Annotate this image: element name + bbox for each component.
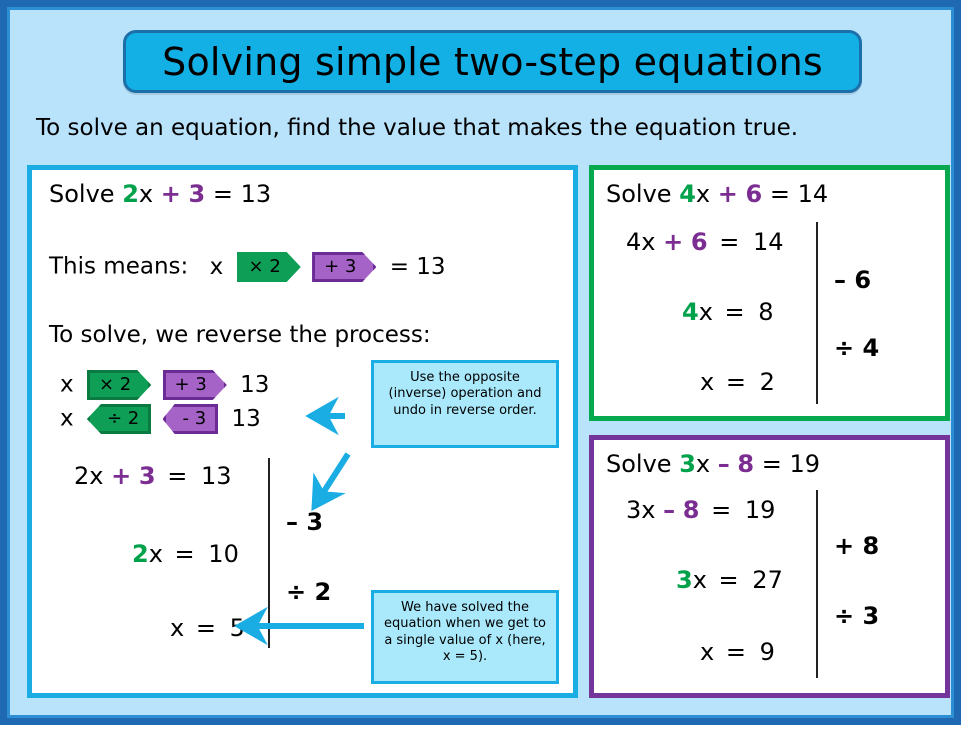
left-w1-equals: = <box>167 462 187 490</box>
green-heading-rhs: 14 <box>798 180 829 208</box>
left-w2-equals: = <box>175 540 195 568</box>
reverse-row2-end: 13 <box>232 406 261 432</box>
left-w3-var: x <box>170 614 184 642</box>
forward-chain-start: x <box>210 254 224 280</box>
left-w1-var: x <box>89 462 103 490</box>
green-w1-coef: 4 <box>626 228 641 256</box>
left-side-op-2: ÷ 2 <box>286 578 331 606</box>
forward-chip-add: + 3 <box>312 252 376 282</box>
worked-example-panel-purple: Solve 3x – 8 = 19 3x – 8 = 19 3x = 27 x … <box>589 435 950 698</box>
green-w2-equals: = <box>725 298 745 326</box>
reverse-chain-row-forward: x × 2 + 3 13 <box>60 370 269 400</box>
purple-w2-equals: = <box>719 566 739 594</box>
purple-working-line-2: 3x = 27 <box>676 566 783 594</box>
reverse-row1-start: x <box>60 372 74 398</box>
green-working-line-2: 4x = 8 <box>682 298 774 326</box>
left-working-line-3: x = 5 <box>170 614 245 642</box>
purple-heading-solve: Solve <box>606 450 672 478</box>
purple-heading: Solve 3x – 8 = 19 <box>606 450 820 478</box>
left-working-line-2: 2x = 10 <box>132 540 239 568</box>
worked-example-panel-main: Solve 2x + 3 = 13 This means: x × 2 + 3 … <box>27 165 578 698</box>
left-heading-const: 3 <box>189 180 206 208</box>
reverse-label: To solve, we reverse the process: <box>49 322 431 348</box>
green-w1-var: x <box>641 228 655 256</box>
purple-heading-var: x <box>696 450 710 478</box>
green-w1-rhs: 14 <box>753 228 784 256</box>
worked-example-panel-green: Solve 4x + 6 = 14 4x + 6 = 14 4x = 8 x =… <box>589 165 950 421</box>
purple-w1-var: x <box>641 496 655 524</box>
green-heading-op: + <box>718 180 738 208</box>
left-w2-var: x <box>149 540 163 568</box>
purple-heading-equals: = <box>762 450 782 478</box>
intro-text: To solve an equation, find the value tha… <box>36 115 798 141</box>
green-w2-coef: 4 <box>682 298 699 326</box>
green-side-op-2: ÷ 4 <box>834 334 879 362</box>
page-title: Solving simple two-step equations <box>162 40 823 84</box>
purple-w3-rhs: 9 <box>760 638 775 666</box>
purple-heading-op: – <box>718 450 730 478</box>
left-heading-equals: = <box>213 180 233 208</box>
left-heading: Solve 2x + 3 = 13 <box>49 180 271 208</box>
green-w1-equals: = <box>719 228 739 256</box>
purple-w3-var: x <box>700 638 714 666</box>
purple-heading-const: 8 <box>737 450 754 478</box>
left-w2-coef: 2 <box>132 540 149 568</box>
green-w2-rhs: 8 <box>758 298 773 326</box>
left-w1-const: 3 <box>139 462 156 490</box>
reverse-row1-end: 13 <box>240 372 269 398</box>
slide-canvas: Solving simple two-step equations To sol… <box>0 0 961 725</box>
left-w2-rhs: 10 <box>208 540 239 568</box>
forward-chip-multiply: × 2 <box>237 252 301 282</box>
reverse-row2-start: x <box>60 406 74 432</box>
green-heading-solve: Solve <box>606 180 672 208</box>
purple-divider-rule <box>816 490 818 678</box>
reverse-row2-chip-subtract: - 3 <box>163 404 219 434</box>
purple-side-op-2: ÷ 3 <box>834 602 879 630</box>
purple-working-line-1: 3x – 8 = 19 <box>626 496 775 524</box>
purple-w1-rhs: 19 <box>745 496 776 524</box>
green-divider-rule <box>816 222 818 404</box>
left-heading-op: + <box>161 180 181 208</box>
purple-w2-rhs: 27 <box>752 566 783 594</box>
left-heading-solve: Solve <box>49 180 115 208</box>
slide-title-box: Solving simple two-step equations <box>123 30 862 93</box>
green-w3-rhs: 2 <box>760 368 775 396</box>
green-w3-var: x <box>700 368 714 396</box>
this-means-row: This means: x × 2 + 3 = 13 <box>49 252 446 282</box>
green-w1-const: 6 <box>691 228 708 256</box>
left-w1-rhs: 13 <box>201 462 232 490</box>
callout-inverse-operation: Use the opposite (inverse) operation and… <box>371 360 559 448</box>
reverse-row2-chip-divide: ÷ 2 <box>87 404 151 434</box>
left-divider-rule <box>268 458 270 648</box>
green-w2-var: x <box>699 298 713 326</box>
reverse-chain-row-inverse: x ÷ 2 - 3 13 <box>60 404 261 434</box>
purple-w3-equals: = <box>726 638 746 666</box>
purple-w1-op: – <box>663 496 675 524</box>
green-side-op-1: – 6 <box>834 266 871 294</box>
purple-w1-coef: 3 <box>626 496 641 524</box>
purple-heading-rhs: 19 <box>789 450 820 478</box>
green-working-line-1: 4x + 6 = 14 <box>626 228 784 256</box>
left-heading-coef: 2 <box>122 180 139 208</box>
purple-working-line-3: x = 9 <box>700 638 775 666</box>
purple-w2-coef: 3 <box>676 566 693 594</box>
green-heading-equals: = <box>770 180 790 208</box>
purple-side-op-1: + 8 <box>834 532 879 560</box>
green-heading-const: 6 <box>746 180 763 208</box>
green-heading-coef: 4 <box>679 180 696 208</box>
green-working-line-3: x = 2 <box>700 368 775 396</box>
left-heading-rhs: 13 <box>241 180 272 208</box>
green-heading: Solve 4x + 6 = 14 <box>606 180 828 208</box>
purple-w2-var: x <box>693 566 707 594</box>
left-w1-op: + <box>111 462 131 490</box>
green-heading-var: x <box>696 180 710 208</box>
green-w3-equals: = <box>726 368 746 396</box>
reverse-row1-chip-multiply: × 2 <box>87 370 151 400</box>
green-w1-op: + <box>663 228 683 256</box>
callout-single-value: We have solved the equation when we get … <box>371 590 559 684</box>
left-w1-coef: 2 <box>74 462 89 490</box>
this-means-label: This means: <box>49 254 188 280</box>
left-w3-rhs: 5 <box>230 614 245 642</box>
purple-heading-coef: 3 <box>679 450 696 478</box>
left-heading-var: x <box>139 180 153 208</box>
left-w3-equals: = <box>196 614 216 642</box>
forward-chain-tail: = 13 <box>390 254 446 280</box>
left-side-op-1: – 3 <box>286 508 323 536</box>
purple-w1-const: 8 <box>683 496 700 524</box>
left-working-line-1: 2x + 3 = 13 <box>74 462 232 490</box>
reverse-row1-chip-add: + 3 <box>163 370 227 400</box>
purple-w1-equals: = <box>711 496 731 524</box>
